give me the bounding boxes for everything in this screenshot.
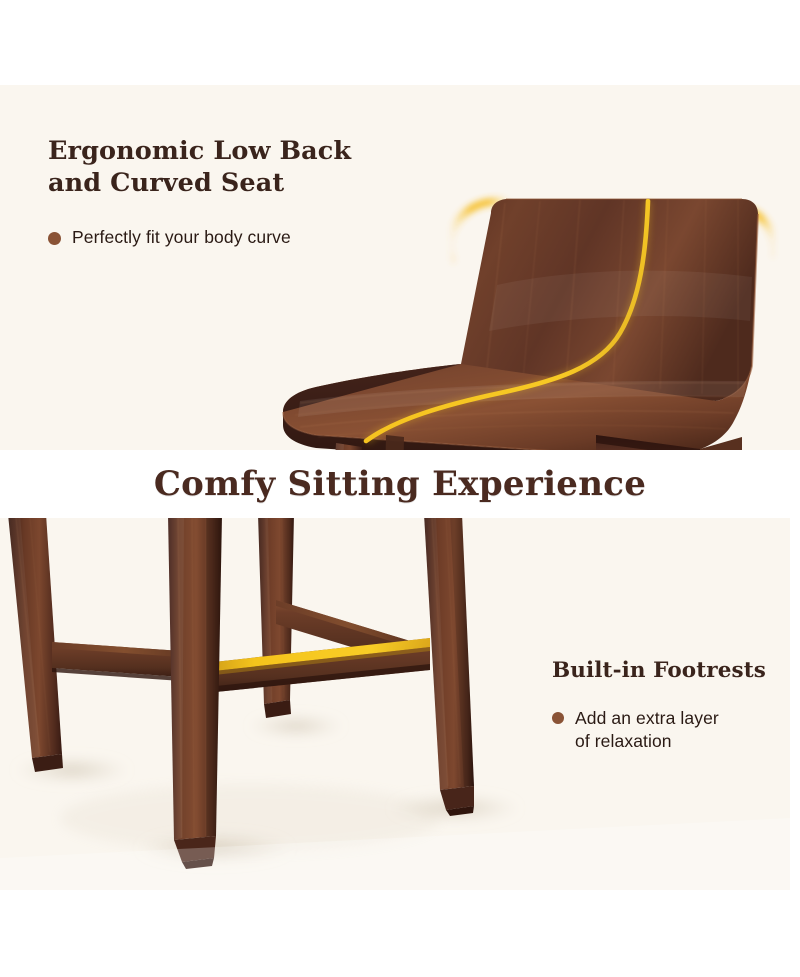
top-feature-panel: Ergonomic Low Back and Curved Seat Perfe… <box>0 85 800 450</box>
leg-front-right <box>424 518 474 816</box>
banner-title: Comfy Sitting Experience <box>154 464 646 504</box>
shadow-rear-leg <box>248 715 344 737</box>
bottom-headline: Built-in Footrests <box>552 658 784 685</box>
leg-front-center <box>168 518 222 869</box>
top-bullet-item: Perfectly fit your body curve <box>48 226 378 249</box>
bottom-headline-line-1: Built-in Footrests <box>552 658 766 683</box>
center-banner: Comfy Sitting Experience <box>0 450 800 518</box>
top-headline-line-2: and Curved Seat <box>48 168 284 198</box>
bottom-text-block: Built-in Footrests Add an extra layer of… <box>552 658 784 753</box>
top-bullet-text: Perfectly fit your body curve <box>72 226 291 249</box>
bottom-bullet-line-1: Add an extra layer <box>575 708 719 728</box>
bullet-dot-icon <box>48 232 61 245</box>
footrest-cross-stretcher <box>196 638 430 694</box>
bullet-dot-icon <box>552 712 564 724</box>
bottom-bullet-item: Add an extra layer of relaxation <box>552 707 784 754</box>
top-headline: Ergonomic Low Back and Curved Seat <box>48 135 378 200</box>
shadow-left-leg <box>14 757 130 783</box>
top-headline-line-1: Ergonomic Low Back <box>48 136 351 166</box>
product-infographic: Ergonomic Low Back and Curved Seat Perfe… <box>0 0 800 977</box>
top-text-block: Ergonomic Low Back and Curved Seat Perfe… <box>48 135 378 249</box>
bottom-bullet-line-2: of relaxation <box>575 731 672 751</box>
bottom-feature-panel: Built-in Footrests Add an extra layer of… <box>0 518 790 890</box>
leg-back-left <box>384 435 404 450</box>
bottom-bullet-text: Add an extra layer of relaxation <box>575 707 719 754</box>
